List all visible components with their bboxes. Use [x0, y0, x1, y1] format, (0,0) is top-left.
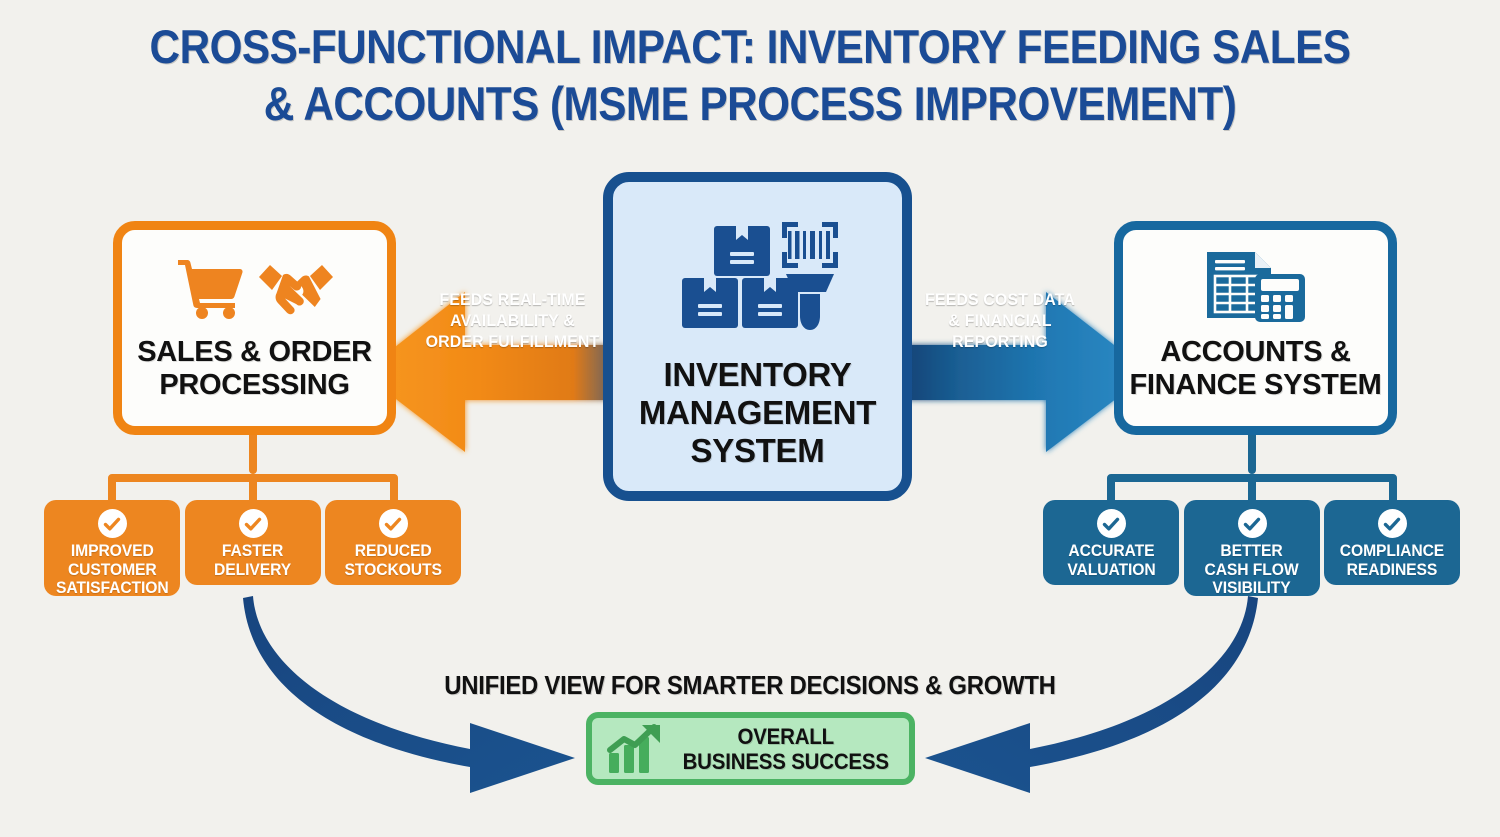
outcome-badge-label: BETTER CASH FLOW VISIBILITY: [1205, 542, 1299, 598]
check-circle-icon: [1238, 509, 1267, 538]
outcome-badge-accurate-valuation[interactable]: ACCURATE VALUATION: [1043, 500, 1179, 585]
inventory-boxes-barcode-scanner-icon: [674, 220, 842, 332]
panel-inventory-icons: [674, 220, 842, 332]
panel-inventory-label: INVENTORY MANAGEMENT SYSTEM: [613, 356, 902, 470]
panel-overall-business-success[interactable]: OVERALL BUSINESS SUCCESS: [586, 712, 915, 785]
outcome-badge-label: REDUCED STOCKOUTS: [344, 542, 441, 579]
flow-label-inventory-to-sales: FEEDS REAL-TIME AVAILABILITY & ORDER FUL…: [416, 289, 609, 352]
outcome-badge-compliance-readiness[interactable]: COMPLIANCE READINESS: [1324, 500, 1460, 585]
panel-sales-order-processing[interactable]: SALES & ORDER PROCESSING: [113, 221, 396, 435]
outcome-badge-label: IMPROVED CUSTOMER SATISFACTION: [56, 542, 169, 598]
outcome-badge-label: FASTER DELIVERY: [214, 542, 291, 579]
flow-label-inventory-to-accounts: FEEDS COST DATA & FINANCIAL REPORTING: [906, 289, 1094, 352]
panel-accounts-finance-system[interactable]: ACCOUNTS & FINANCE SYSTEM: [1114, 221, 1397, 435]
outcome-badge-improved-customer-satisfaction[interactable]: IMPROVED CUSTOMER SATISFACTION: [44, 500, 180, 596]
panel-sales-label: SALES & ORDER PROCESSING: [122, 336, 387, 402]
check-circle-icon: [98, 509, 127, 538]
diagram-canvas: CROSS-FUNCTIONAL IMPACT: INVENTORY FEEDI…: [0, 0, 1500, 837]
calculator-icon: [1255, 274, 1305, 322]
outcome-badge-faster-delivery[interactable]: FASTER DELIVERY: [185, 500, 321, 585]
check-circle-icon: [1378, 509, 1407, 538]
check-circle-icon: [379, 509, 408, 538]
check-circle-icon: [239, 509, 268, 538]
outcome-badge-reduced-stockouts[interactable]: REDUCED STOCKOUTS: [325, 500, 461, 585]
connector-finance-tree: [1111, 435, 1393, 500]
outcome-badge-label: ACCURATE VALUATION: [1067, 542, 1155, 579]
invoice-document-calculator-icon: [1203, 250, 1309, 324]
panel-accounts-label: ACCOUNTS & FINANCE SYSTEM: [1123, 336, 1388, 402]
connector-sales-tree: [112, 435, 394, 500]
panel-inventory-management-system[interactable]: INVENTORY MANAGEMENT SYSTEM: [603, 172, 912, 501]
handshake-icon: [258, 259, 334, 317]
shopping-cart-icon: [176, 255, 248, 321]
outcome-badge-label: COMPLIANCE READINESS: [1340, 542, 1444, 579]
growth-chart-icon: [606, 723, 668, 775]
check-circle-icon: [1097, 509, 1126, 538]
outcome-badge-better-cash-flow-visibility[interactable]: BETTER CASH FLOW VISIBILITY: [1184, 500, 1320, 596]
footer-caption: UNIFIED VIEW FOR SMARTER DECISIONS & GRO…: [364, 670, 1137, 700]
panel-accounts-icons: [1203, 250, 1309, 324]
panel-sales-icons: [176, 252, 334, 324]
panel-success-label: OVERALL BUSINESS SUCCESS: [676, 724, 900, 774]
